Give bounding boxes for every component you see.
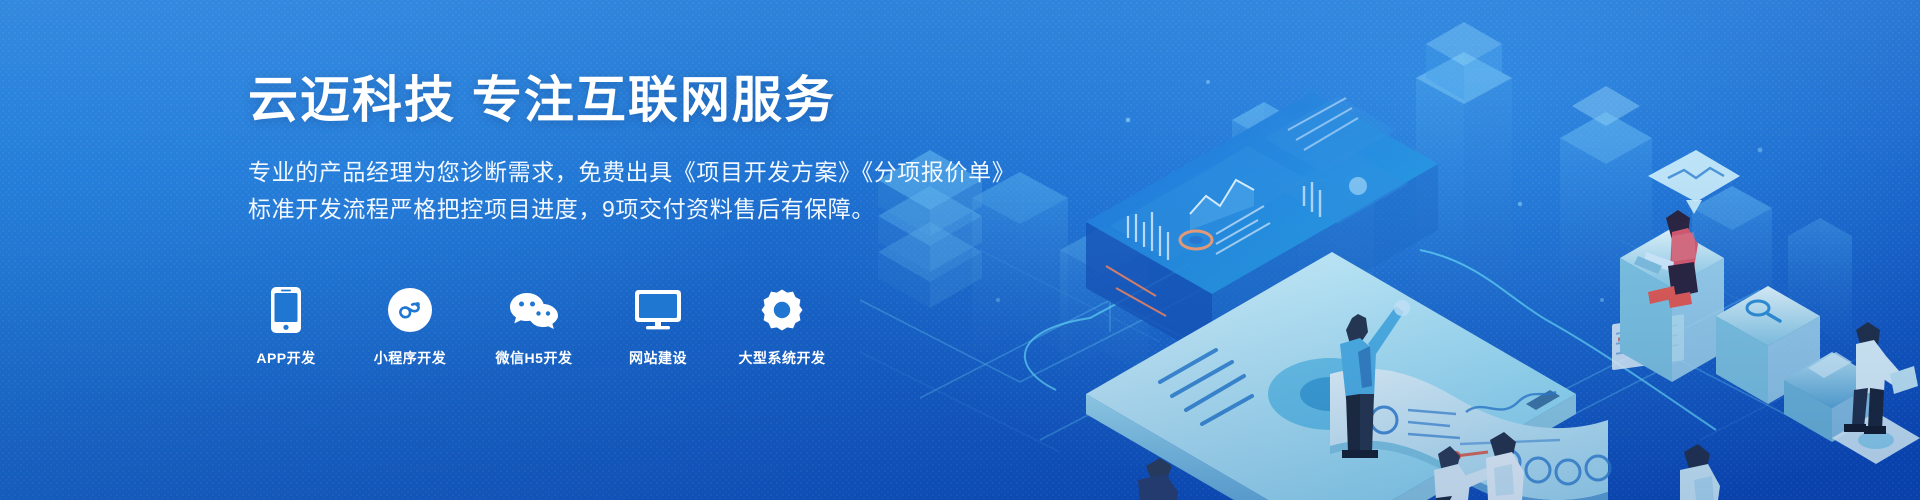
person-sitting-laptop [1102,458,1182,500]
subtitle-line-2: 标准开发流程严格把控项目进度，9项交付资料售后有保障。 [248,191,1128,228]
service-item-miniprogram[interactable]: 小程序开发 [372,286,448,368]
service-list: APP开发 小程序开发 [248,286,820,368]
monitor-icon [635,286,681,334]
service-label: 小程序开发 [374,348,447,368]
subtitle-line-1: 专业的产品经理为您诊断需求，免费出具《项目开发方案》《分项报价单》 [248,154,1128,191]
page-title: 云迈科技 专注互联网服务 [248,72,1128,128]
pedestal-steps [1620,150,1920,464]
hero-subtitle: 专业的产品经理为您诊断需求，免费出具《项目开发方案》《分项报价单》 标准开发流程… [248,154,1128,229]
service-item-website[interactable]: 网站建设 [620,286,696,368]
service-item-wechat-h5[interactable]: 微信H5开发 [496,286,572,368]
service-item-app[interactable]: APP开发 [248,286,324,368]
mobile-phone-icon [271,286,301,334]
hero-banner: 云迈科技 专注互联网服务 专业的产品经理为您诊断需求，免费出具《项目开发方案》《… [0,0,1920,500]
service-item-system[interactable]: 大型系统开发 [744,286,820,368]
service-label: 大型系统开发 [739,348,826,368]
wechat-icon [508,286,560,334]
mini-program-icon [388,286,432,334]
hero-content: 云迈科技 专注互联网服务 专业的产品经理为您诊断需求，免费出具《项目开发方案》《… [248,72,1128,229]
service-label: APP开发 [256,348,315,368]
service-label: 网站建设 [629,348,687,368]
service-label: 微信H5开发 [496,348,573,368]
gear-icon [760,286,804,334]
